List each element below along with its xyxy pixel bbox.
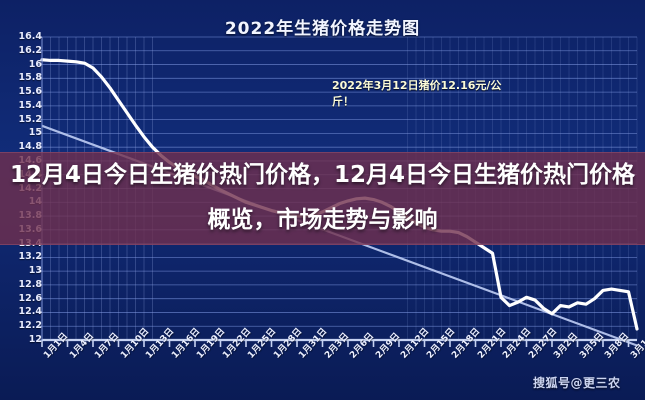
x-axis-tick-label: 2月6日	[346, 329, 376, 360]
x-axis-tick-label: 1月4日	[66, 329, 96, 360]
x-axis-tick-label: 3月8日	[601, 329, 631, 360]
watermark: 搜狐号@更三农	[533, 374, 621, 391]
x-axis-tick-label: 3月5日	[576, 329, 606, 360]
x-axis-tick-label: 1月1日	[40, 329, 70, 360]
x-axis-tick-label: 2月9日	[372, 329, 402, 360]
x-axis-tick-label: 3月11日	[627, 325, 645, 361]
x-axis-tick-label: 1月7日	[91, 329, 121, 360]
chart-annotation: 2022年3月12日猪价12.16元/公斤！	[332, 78, 512, 110]
chart-screenshot: 2022年生猪价格走势图 16.416.21615.815.615.415.21…	[0, 0, 645, 400]
headline-text: 12月4日今日生猪价热门价格，12月4日今日生猪价热门价格概览，市场走势与影响	[0, 152, 645, 243]
